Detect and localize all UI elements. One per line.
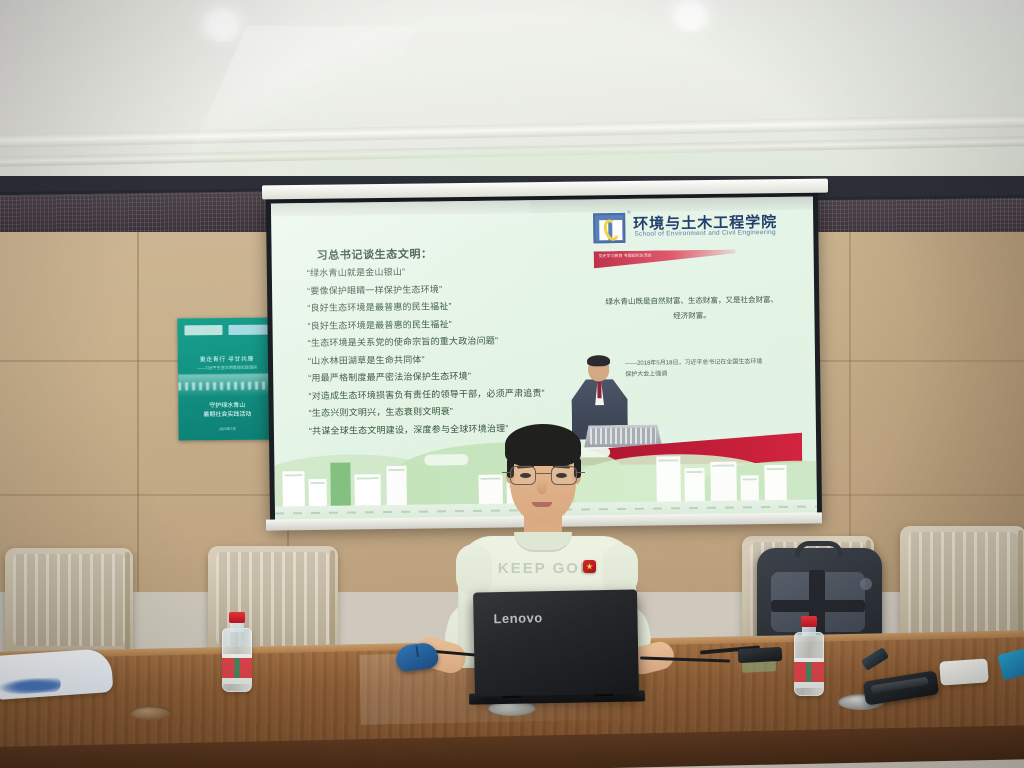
power-adapter	[738, 647, 783, 663]
slide-pennant-text: 党史学习教育 专题组织生活会	[599, 253, 652, 259]
downlight-right-core	[679, 5, 703, 21]
trademark-icon: ®	[627, 210, 631, 216]
poster-headline: 重走青行 寻甘共廉	[178, 353, 276, 363]
downlight-left-core	[210, 14, 234, 31]
laptop-lid: Lenovo	[473, 589, 639, 696]
college-logo-icon	[593, 213, 625, 243]
slide-featured-quote: 绿水青山既是自然财富、生态财富，又是社会财富、经济财富。	[604, 292, 779, 324]
poster-body-line2: 暑期社会实践活动	[203, 412, 251, 419]
poster-water-graphic	[178, 373, 276, 396]
ceiling	[0, 0, 1024, 176]
slide-red-pennant: 党史学习教育 专题组织生活会	[594, 249, 736, 268]
water-bottle	[794, 616, 824, 702]
folded-cloth	[0, 648, 113, 700]
chair	[5, 548, 133, 656]
bottle-label	[794, 658, 824, 688]
poster-footer: 2023年7月	[179, 426, 277, 432]
slide-org-title-en: School of Environment and Civil Engineer…	[634, 229, 776, 238]
backpack-logo-icon	[860, 578, 872, 590]
bottle-label	[222, 654, 252, 684]
poster-college-logo	[228, 325, 268, 335]
water-bottle	[222, 612, 252, 696]
table-knot	[130, 706, 172, 720]
poster-university-logo	[184, 325, 222, 335]
laptop[interactable]: Lenovo	[473, 589, 639, 696]
poster-subline: ——习近平生态文明思想实践调研	[178, 364, 276, 371]
laptop-brand-logo: Lenovo	[493, 610, 543, 626]
party-emblem-pin-icon	[583, 560, 596, 573]
poster-logos	[184, 324, 268, 337]
poster-body: 守护绿水青山 暑期社会实践活动	[178, 401, 276, 420]
bottle-cap	[229, 612, 246, 623]
person-hair	[505, 424, 581, 466]
poster-body-line1: 守护绿水青山	[209, 403, 245, 409]
conference-room-photo: 重走青行 寻甘共廉 ——习近平生态文明思想实践调研 守护绿水青山 暑期社会实践活…	[0, 0, 1024, 768]
bottle-cap	[801, 616, 818, 627]
slide-quote-attribution: ——2018年5月18日，习近平总书记在全国生态环境保护大会上强调	[625, 357, 765, 382]
white-box	[939, 658, 989, 685]
wall-poster: 重走青行 寻甘共廉 ——习近平生态文明思想实践调研 守护绿水青山 暑期社会实践活…	[177, 317, 276, 440]
